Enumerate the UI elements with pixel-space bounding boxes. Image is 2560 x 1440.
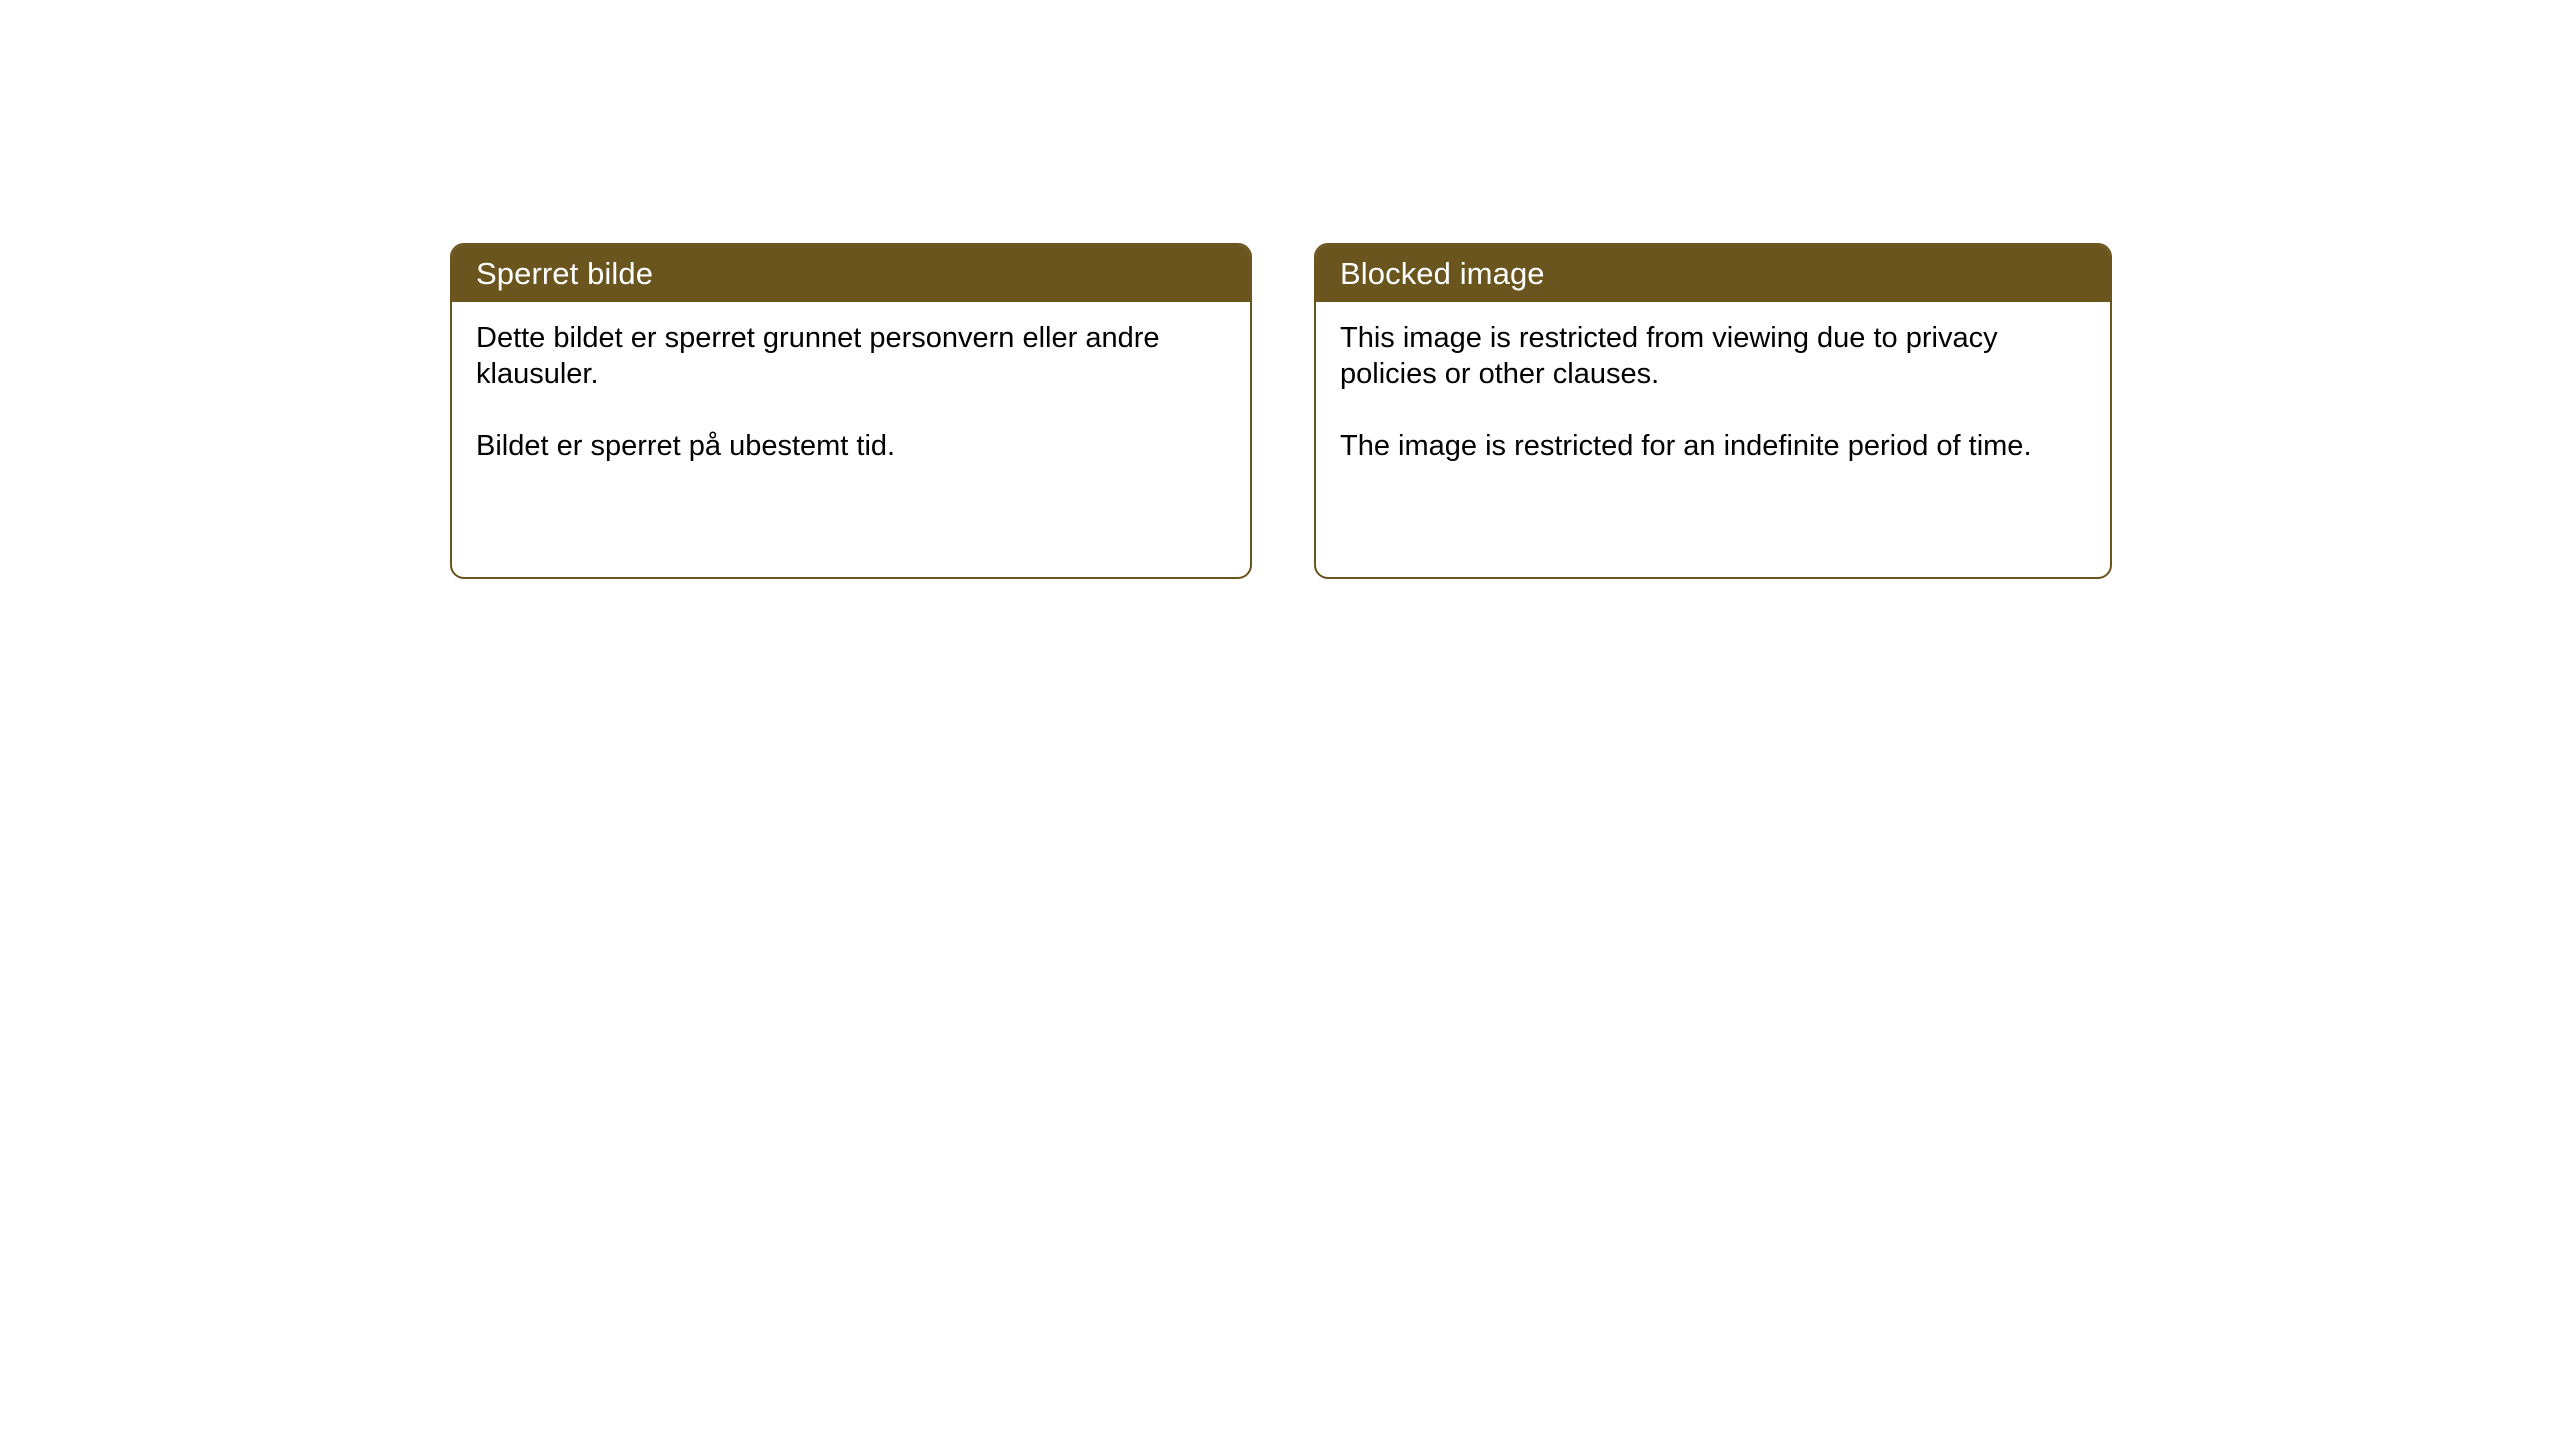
blocked-image-card-norwegian: Sperret bilde Dette bildet er sperret gr… — [450, 243, 1252, 579]
card-header-norwegian: Sperret bilde — [452, 245, 1250, 302]
card-title-english: Blocked image — [1340, 258, 1545, 289]
card-paragraph-norwegian-2: Bildet er sperret på ubestemt tid. — [476, 428, 1226, 464]
card-paragraph-english-2: The image is restricted for an indefinit… — [1340, 428, 2086, 464]
page-root: Sperret bilde Dette bildet er sperret gr… — [0, 0, 2560, 1440]
card-body-english: This image is restricted from viewing du… — [1316, 302, 2110, 464]
card-title-norwegian: Sperret bilde — [476, 258, 653, 289]
card-header-english: Blocked image — [1316, 245, 2110, 302]
card-paragraph-english-1: This image is restricted from viewing du… — [1340, 320, 2086, 392]
blocked-image-card-english: Blocked image This image is restricted f… — [1314, 243, 2112, 579]
card-paragraph-norwegian-1: Dette bildet er sperret grunnet personve… — [476, 320, 1226, 392]
card-body-norwegian: Dette bildet er sperret grunnet personve… — [452, 302, 1250, 464]
